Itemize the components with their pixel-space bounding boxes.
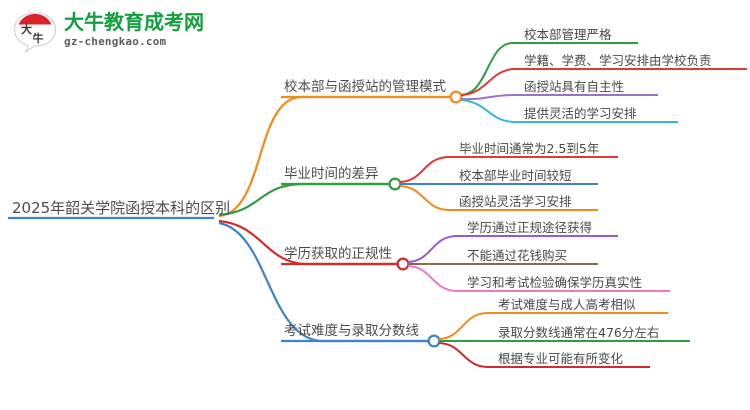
- connector-root-branch-2: [219, 184, 391, 215]
- mindmap-branch-label-3[interactable]: 学历获取的正规性: [284, 248, 392, 262]
- branch-4-node[interactable]: [429, 336, 440, 347]
- connector-root-branch-1: [219, 97, 452, 216]
- mindmap-leaf-label-4-2[interactable]: 录取分数线通常在476分左右: [498, 327, 659, 340]
- mindmap-leaf-label-1-4[interactable]: 提供灵活的学习安排: [524, 108, 637, 121]
- mindmap-leaf-label-4-3[interactable]: 根据专业可能有所变化: [498, 353, 623, 366]
- connector-branch-3-leaf-3: [408, 266, 463, 291]
- connector-branch-1-leaf-4: [461, 100, 520, 122]
- mindmap-leaf-label-1-1[interactable]: 校本部管理严格: [524, 29, 612, 42]
- mindmap-root-label[interactable]: 2025年韶关学院函授本科的区别: [12, 201, 230, 216]
- connector-branch-4-leaf-3: [439, 343, 494, 367]
- connector-branch-1-leaf-3: [461, 95, 520, 99]
- mindmap-leaf-label-1-2[interactable]: 学籍、学费、学习安排由学校负责: [524, 55, 712, 68]
- branch-1-node[interactable]: [451, 92, 462, 103]
- mindmap-leaf-label-1-3[interactable]: 函授站具有自主性: [524, 81, 624, 94]
- mindmap-branch-label-4[interactable]: 考试难度与录取分数线: [284, 325, 419, 339]
- connector-branch-2-leaf-1: [400, 157, 455, 182]
- mindmap-branch-label-1[interactable]: 校本部与函授站的管理模式: [284, 81, 446, 95]
- connector-branch-3-leaf-1: [408, 236, 463, 262]
- connector-branch-4-leaf-1: [439, 313, 494, 339]
- mindmap-leaf-label-3-1[interactable]: 学历通过正规途径获得: [467, 222, 592, 235]
- branch-3-node[interactable]: [398, 259, 409, 270]
- connector-branch-1-leaf-2: [461, 69, 520, 95]
- mindmap-leaf-label-3-3[interactable]: 学习和考试检验确保学历真实性: [467, 277, 642, 290]
- connector-branch-2-leaf-3: [400, 186, 455, 210]
- branch-2-node[interactable]: [390, 179, 401, 190]
- mindmap-leaf-label-2-2[interactable]: 校本部毕业时间较短: [459, 170, 572, 183]
- mindmap-leaf-label-2-1[interactable]: 毕业时间通常为2.5到5年: [459, 143, 599, 156]
- mindmap-branch-label-2[interactable]: 毕业时间的差异: [284, 168, 379, 182]
- mindmap-leaf-label-4-1[interactable]: 考试难度与成人高考相似: [498, 299, 636, 312]
- mindmap-leaf-label-3-2[interactable]: 不能通过花钱购买: [467, 250, 567, 263]
- mindmap-leaf-label-2-3[interactable]: 函授站灵活学习安排: [459, 196, 572, 209]
